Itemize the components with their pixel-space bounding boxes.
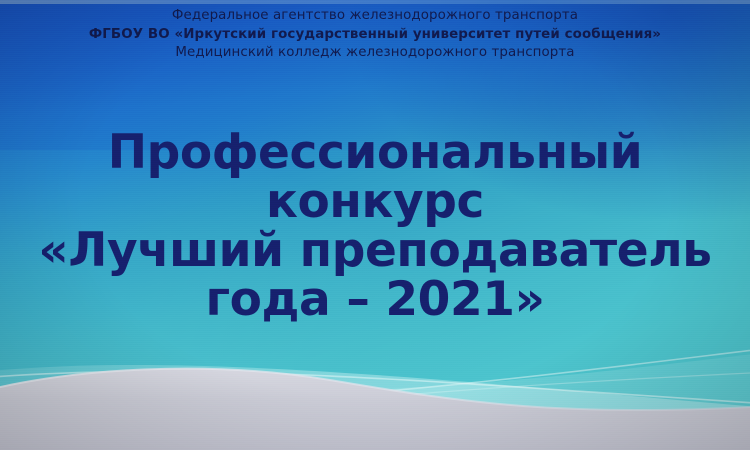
bottom-wave-edge [0, 369, 750, 410]
slide-title: Профессиональный конкурс «Лучший препода… [0, 128, 750, 324]
header-line-college: Медицинский колледж железнодорожного тра… [0, 44, 750, 63]
screen-top-edge-strip [0, 0, 750, 4]
title-line-4: года – 2021» [0, 275, 750, 324]
ribbon-edge-line-a [0, 371, 750, 404]
title-line-3: «Лучший преподаватель [0, 226, 750, 275]
ribbon-edge-line-c [300, 372, 750, 404]
header-line-agency: Федеральное агентство железнодорожного т… [0, 7, 750, 26]
ribbon-band-lower [0, 365, 750, 450]
title-line-2: конкурс [0, 177, 750, 226]
presentation-slide: Федеральное агентство железнодорожного т… [0, 0, 750, 450]
title-line-1: Профессиональный [0, 128, 750, 177]
ribbon-band-upper [0, 352, 750, 450]
institution-header: Федеральное агентство железнодорожного т… [0, 7, 750, 63]
header-line-university: ФГБОУ ВО «Иркутский государственный унив… [0, 26, 750, 45]
bottom-wave-shape [0, 369, 750, 450]
ribbon-edge-line-b [120, 348, 750, 412]
